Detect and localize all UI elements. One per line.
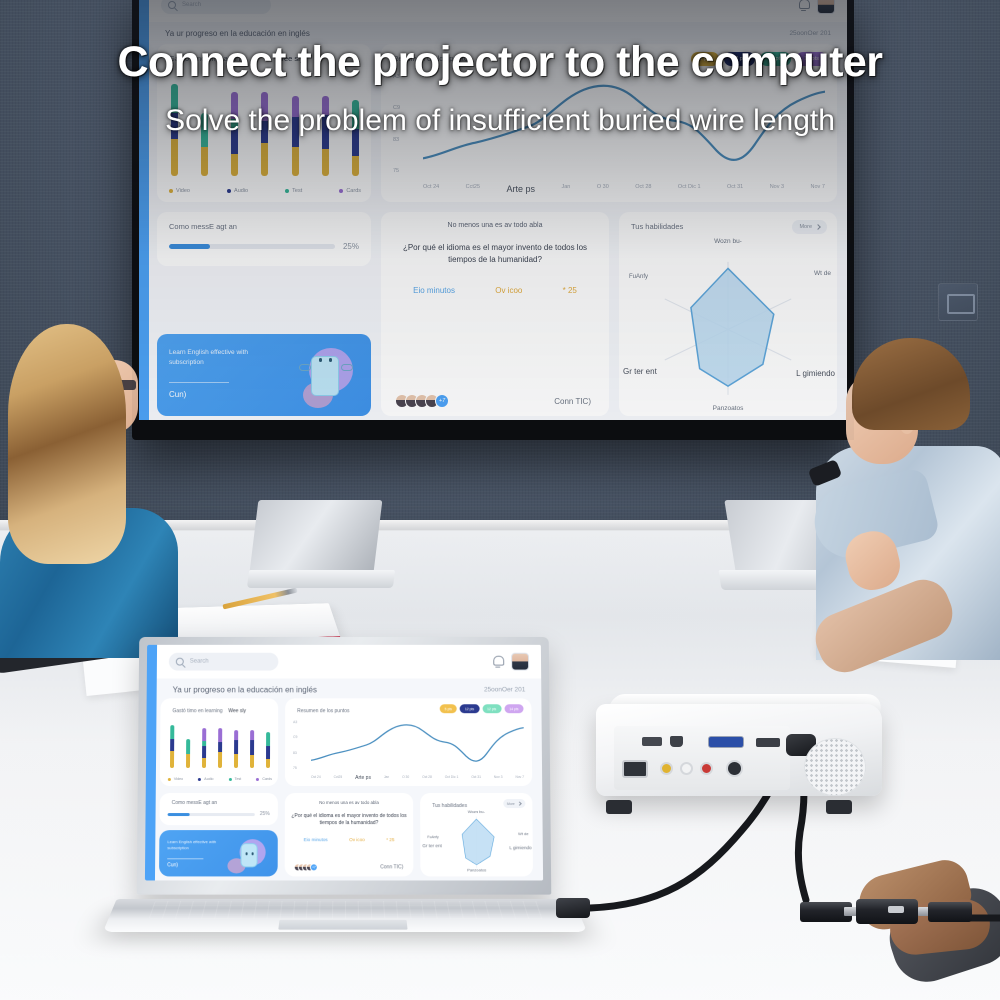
speaker-grille	[804, 738, 866, 796]
rca-video-yellow[interactable]	[660, 762, 673, 775]
progress-value: 25%	[343, 242, 359, 251]
question-text: ¿Por qué el idioma es el mayor invento d…	[291, 813, 407, 828]
projector-port-panel	[614, 726, 790, 790]
laptop-base	[103, 899, 587, 932]
card-title: Como messE agt an	[169, 222, 237, 231]
wall-control-panel-icon[interactable]	[938, 283, 978, 321]
x-tick: Oct Dic 1	[678, 184, 701, 194]
question-footer: Conn TIC)	[380, 864, 403, 870]
page-header: Ya ur progreso en la educación en inglés…	[157, 678, 542, 700]
page-title: Ya ur progreso en la educación en inglés	[165, 29, 310, 38]
bell-icon[interactable]	[798, 0, 809, 11]
x-tick-highlight: Arte ps	[507, 184, 536, 194]
laptop-lid: Search Ya ur progreso en la educación en…	[137, 637, 552, 895]
projector-body	[596, 704, 882, 796]
search-icon	[176, 658, 184, 666]
legend-item: Video	[169, 188, 190, 194]
legend-item: Audio	[198, 777, 213, 781]
power-socket[interactable]	[622, 760, 648, 778]
card-title: Gastó timo en learning	[172, 708, 222, 714]
search-placeholder: Search	[182, 2, 201, 8]
dashboard-topbar: Search	[157, 645, 541, 679]
x-tick: Oct 31	[727, 184, 743, 194]
avatar-more-count[interactable]: +7	[435, 394, 449, 408]
legend-item: Cards	[339, 188, 361, 194]
skills-more-button[interactable]: More	[792, 220, 827, 234]
hair	[8, 324, 126, 564]
legend-label: Test	[292, 188, 302, 194]
x-tick: Nov 7	[515, 775, 524, 781]
x-tick: Oct 28	[635, 184, 651, 194]
radar-axis-label: FuAnfy	[629, 274, 648, 280]
radar-axis-label: Wt de	[814, 270, 831, 277]
rca-audio-white[interactable]	[680, 762, 693, 775]
participant-avatars[interactable]: +7	[395, 394, 449, 408]
usb-a-port[interactable]	[642, 737, 662, 746]
headline: Connect the projector to the computer	[0, 38, 1000, 87]
question-footer: Conn TIC)	[554, 397, 591, 406]
legend-item: Test	[285, 188, 302, 194]
laptop-screen: Search Ya ur progreso en la educación en…	[145, 645, 543, 881]
hair	[852, 338, 970, 430]
progress-row: 25%	[168, 811, 270, 817]
x-tick: Oct Dic 1	[445, 775, 459, 781]
hdmi-coupler	[800, 896, 970, 928]
x-tick: Oct 24	[423, 184, 439, 194]
y-tick: 75	[393, 168, 421, 174]
more-label: More	[507, 802, 515, 806]
meta-type: Ov icoo	[495, 286, 522, 295]
legend-label: Cards	[346, 188, 361, 194]
pill-badge[interactable]: 14 pts	[504, 704, 523, 713]
card-title: Como messE agt an	[172, 800, 217, 806]
sidebar-rail[interactable]	[145, 645, 157, 881]
legend-label: Video	[176, 188, 190, 194]
legend-label: Video	[174, 777, 183, 781]
audio-jack[interactable]	[726, 760, 743, 777]
card-skills: Tus habilidades More Wozn bu-	[420, 793, 533, 876]
laptop-keyboard[interactable]	[149, 901, 544, 919]
mascot-icon	[231, 835, 269, 875]
avatar[interactable]	[817, 0, 835, 14]
dashboard-laptop: Search Ya ur progreso en la educación en…	[145, 645, 543, 881]
promo-divider	[167, 858, 203, 859]
y-tick: 83	[293, 751, 309, 755]
progress-fill	[168, 813, 190, 816]
laptop-trackpad[interactable]	[278, 920, 407, 930]
search-placeholder: Search	[190, 659, 209, 665]
foreground-laptop: Search Ya ur progreso en la educación en…	[110, 636, 580, 956]
vga-port[interactable]	[708, 736, 744, 748]
legend-item: Audio	[227, 188, 248, 194]
meeting-room-scene: Search Ya ur progreso en la educación en…	[0, 0, 1000, 1000]
page-title: Ya ur progreso en la educación en inglés	[173, 685, 317, 694]
radar-axis-label: L gimiendo	[509, 845, 531, 850]
x-tick: Jan	[384, 775, 389, 781]
hdmi-port[interactable]	[756, 738, 780, 747]
card-time-spent: Gastó timo en learning Wee sly	[160, 698, 278, 786]
x-tick: Nov 3	[770, 184, 784, 194]
search-input[interactable]: Search	[169, 653, 279, 671]
subheadline: Solve the problem of insufficient buried…	[0, 104, 1000, 138]
card-progress: Como messE agt an 25%	[157, 212, 371, 266]
question-meta: Eio minutos Ov icoo * 25	[293, 837, 405, 842]
x-axis-ticks: Oct 24 Cct25 Arte ps Jan O 30 Oct 28 Oct…	[311, 775, 524, 781]
x-tick: O 30	[597, 184, 609, 194]
mascot-icon	[295, 344, 357, 410]
legend-item: Cards	[256, 777, 272, 781]
avatar-more-count[interactable]: +7	[310, 863, 318, 871]
radar-axis-label: Gr ter ent	[422, 843, 442, 848]
x-tick: Nov 7	[811, 184, 825, 194]
rca-audio-red[interactable]	[700, 762, 713, 775]
x-tick-highlight: Arte ps	[355, 775, 371, 781]
x-tick: Jan	[562, 184, 571, 194]
more-label: More	[799, 224, 812, 230]
chevron-right-icon	[815, 224, 821, 230]
y-tick: A3	[293, 720, 309, 724]
skills-more-button[interactable]: More	[503, 799, 525, 808]
question-text: ¿Por qué el idioma es el mayor invento d…	[391, 242, 599, 265]
radar-axis-label: Wozn bu-	[468, 809, 485, 814]
avatar[interactable]	[511, 653, 529, 671]
x-tick: Oct 28	[422, 775, 432, 781]
points-pills: 5 pts 12 pts 12 pts 14 pts	[440, 704, 524, 713]
x-tick: Cct25	[334, 775, 343, 781]
y-axis-ticks: A3 C9 83 75	[293, 720, 309, 770]
card-points-summary: Resumen de los puntos 5 pts 12 pts 12 pt…	[285, 698, 532, 786]
bell-icon[interactable]	[492, 656, 503, 668]
x-tick: Cct25	[466, 184, 480, 194]
card-question: No menos una es av todo abla ¿Por qué el…	[285, 793, 414, 876]
bar-chart-legend: Video Audio Test Cards	[169, 188, 361, 194]
x-tick: Oct 31	[471, 775, 481, 781]
page-date: 25oonOer 201	[789, 30, 831, 37]
meta-duration: Eio minutos	[413, 286, 455, 295]
search-input[interactable]: Search	[161, 0, 271, 14]
projector	[596, 694, 892, 820]
question-heading: No menos una es av todo abla	[285, 800, 413, 805]
radar-axis-label: Panzoatos	[713, 405, 744, 412]
dashboard-grid: Gastó timo en learning Wee sly	[157, 44, 837, 416]
line-chart	[311, 720, 524, 768]
page-date: 25oonOer 201	[484, 686, 525, 693]
projector-foot	[606, 800, 632, 814]
card-question: No menos una es av todo abla ¿Por qué el…	[381, 212, 609, 416]
stacked-bar-chart	[170, 722, 270, 768]
background-laptop-left	[248, 500, 384, 592]
legend-label: Cards	[262, 777, 272, 781]
legend-item: Video	[168, 777, 183, 781]
x-tick: O 30	[402, 775, 409, 781]
question-meta: Eio minutos Ov icoo * 25	[393, 286, 597, 295]
meta-duration: Eio minutos	[304, 837, 328, 842]
legend-label: Test	[235, 777, 242, 781]
chevron-right-icon	[518, 802, 522, 806]
laptop-hdmi-plug	[556, 898, 590, 918]
x-tick: Oct 24	[311, 775, 321, 781]
legend-item: Test	[229, 777, 242, 781]
question-heading: No menos una es av todo abla	[381, 222, 609, 229]
radar-axis-label: Gr ter ent	[623, 367, 657, 376]
x-axis-ticks: Oct 24 Cct25 Arte ps Jan O 30 Oct 28 Oct…	[423, 184, 825, 194]
progress-row: 25%	[169, 242, 359, 251]
card-promo[interactable]: Learn English effective with subscriptio…	[159, 830, 278, 876]
dashboard-grid: Gastó timo en learning Wee sly	[159, 698, 533, 876]
pill-badge[interactable]: 12 pts	[482, 704, 501, 713]
radar-axis-label: FuAnfy	[427, 835, 438, 839]
progress-value: 25%	[260, 811, 270, 817]
radar-axis-label: Wt de	[518, 831, 529, 836]
meta-type: Ov icoo	[349, 837, 365, 842]
radar-chart: Wozn bu- Wt de L gimiendo Panzoatos Gr t…	[420, 809, 533, 872]
participant-avatars[interactable]: +7	[294, 863, 318, 871]
projector-foot	[826, 800, 852, 814]
card-subtitle: Wee sly	[228, 708, 246, 714]
radar-axis-label: Panzoatos	[467, 867, 486, 872]
meta-count: * 25	[563, 286, 577, 295]
promo-text: Learn English effective with subscriptio…	[167, 839, 231, 851]
dashboard-topbar: Search	[149, 0, 847, 22]
usb-b-port[interactable]	[670, 736, 683, 747]
progress-fill	[169, 244, 210, 249]
card-title: Tus habilidades	[631, 222, 683, 231]
pill-badge[interactable]: 5 pts	[440, 704, 457, 713]
y-tick: 75	[293, 766, 309, 770]
meta-count: * 25	[386, 837, 394, 842]
progress-bar	[168, 813, 255, 816]
bar-chart-legend: Video Audio Test Cards	[168, 777, 272, 781]
card-progress: Como messE agt an 25%	[159, 793, 277, 825]
progress-bar	[169, 244, 335, 249]
y-tick: C9	[293, 735, 309, 739]
legend-label: Audio	[204, 777, 213, 781]
legend-label: Audio	[234, 188, 248, 194]
person-woman-left	[0, 318, 220, 658]
promo-cta[interactable]: Cun)	[167, 862, 178, 868]
radar-axis-label: Wozn bu-	[714, 238, 742, 245]
pill-badge[interactable]: 12 pts	[460, 704, 479, 713]
x-tick: Nov 3	[494, 775, 503, 781]
search-icon	[168, 1, 176, 9]
card-title: Resumen de los puntos	[297, 708, 349, 714]
